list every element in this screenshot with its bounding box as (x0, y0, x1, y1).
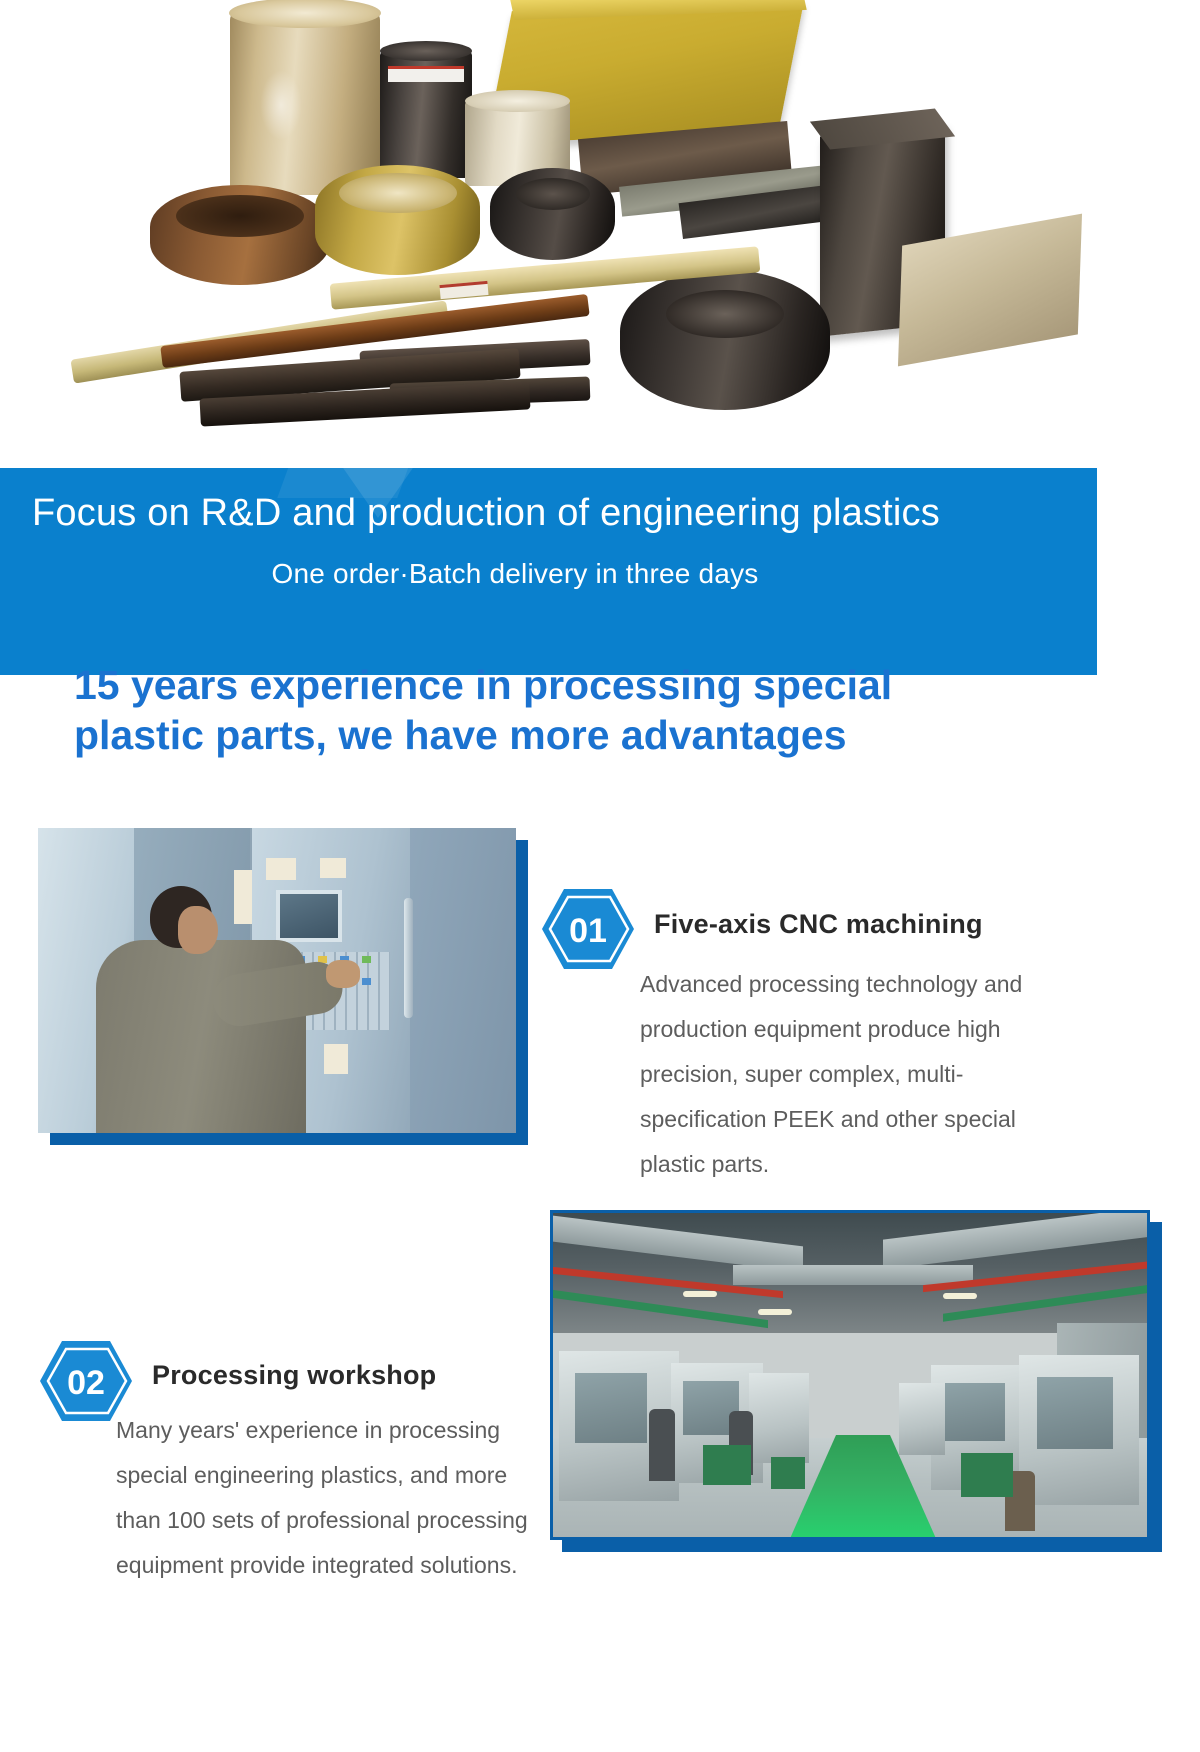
product-detail-page: Focus on R&D and production of engineeri… (0, 0, 1200, 1752)
section-01-number-badge: 01 (540, 886, 636, 972)
hero-product-group (60, 0, 1070, 470)
section-01-body: Advanced processing technology and produ… (640, 962, 1070, 1187)
section-02-image (550, 1210, 1150, 1540)
section-01-image (38, 828, 516, 1133)
product-large-black-ring (620, 270, 830, 410)
product-gold-ring (315, 165, 480, 275)
page-title-line1: 15 years experience in processing specia… (74, 660, 1074, 710)
hero-product-image (0, 0, 1200, 470)
product-tan-rod (230, 10, 380, 195)
page-title: 15 years experience in processing specia… (74, 660, 1074, 760)
section-02-body: Many years' experience in processing spe… (116, 1408, 536, 1588)
product-label-sticker (388, 66, 464, 82)
banner-headline: Focus on R&D and production of engineeri… (32, 492, 1072, 535)
product-brown-ring (150, 185, 330, 285)
hexagon-icon: 01 (540, 886, 636, 972)
product-small-black-ring (490, 168, 615, 260)
section-02-number-text: 02 (67, 1364, 105, 1402)
banner-subline: One order·Batch delivery in three days (0, 558, 1030, 590)
section-01-number-text: 01 (569, 912, 607, 950)
section-02-title: Processing workshop (152, 1360, 436, 1391)
slogan-banner: Focus on R&D and production of engineeri… (0, 468, 1097, 675)
section-01-title: Five-axis CNC machining (654, 909, 983, 940)
page-title-line2: plastic parts, we have more advantages (74, 710, 1074, 760)
